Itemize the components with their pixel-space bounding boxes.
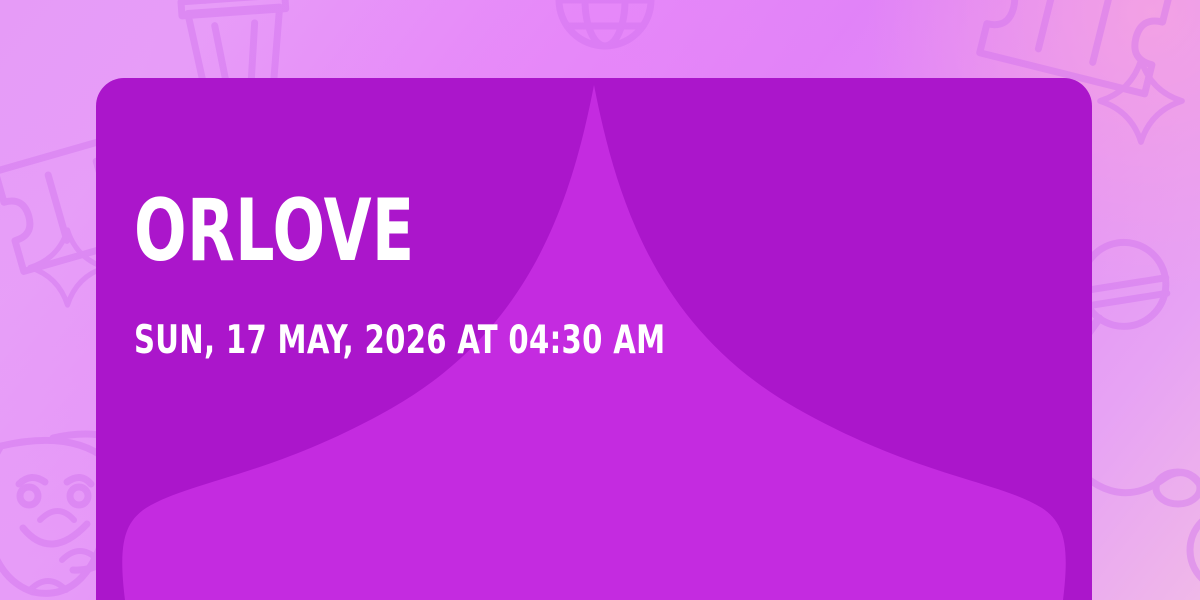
event-card[interactable]: ORLOVE SUN, 17 MAY, 2026 AT 04:30 AM [96,78,1092,600]
card-text-block: ORLOVE SUN, 17 MAY, 2026 AT 04:30 AM [134,196,1052,360]
event-banner-screenshot: ORLOVE SUN, 17 MAY, 2026 AT 04:30 AM [0,0,1200,600]
sparkle-icon [1100,60,1182,142]
globe-icon [559,0,651,46]
event-datetime: SUN, 17 MAY, 2026 AT 04:30 AM [134,267,896,360]
event-title: ORLOVE [134,196,868,267]
